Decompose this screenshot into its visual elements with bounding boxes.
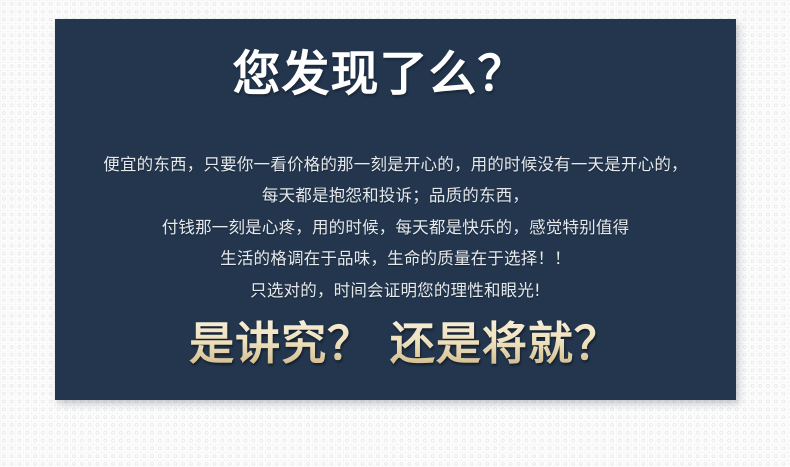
page-root: 您发现了么？ 便宜的东西，只要你一看价格的那一刻是开心的，用的时候没有一天是开心…: [0, 0, 790, 467]
body-line: 只选对的，时间会证明您的理性和眼光!: [55, 275, 736, 306]
body-line: 每天都是抱怨和投诉；品质的东西，: [55, 180, 736, 211]
poster-body-text: 便宜的东西，只要你一看价格的那一刻是开心的，用的时候没有一天是开心的， 每天都是…: [55, 149, 736, 306]
body-line: 付钱那一刻是心疼，用的时候，每天都是快乐的，感觉特别值得: [55, 212, 736, 243]
poster-tagline: 是讲究？ 还是将就？: [55, 315, 736, 373]
promo-poster-panel: 您发现了么？ 便宜的东西，只要你一看价格的那一刻是开心的，用的时候没有一天是开心…: [55, 19, 736, 400]
body-line: 便宜的东西，只要你一看价格的那一刻是开心的，用的时候没有一天是开心的，: [55, 149, 736, 180]
body-line: 生活的格调在于品味，生命的质量在于选择！！: [55, 243, 736, 274]
page-title: 您发现了么？: [55, 46, 736, 102]
